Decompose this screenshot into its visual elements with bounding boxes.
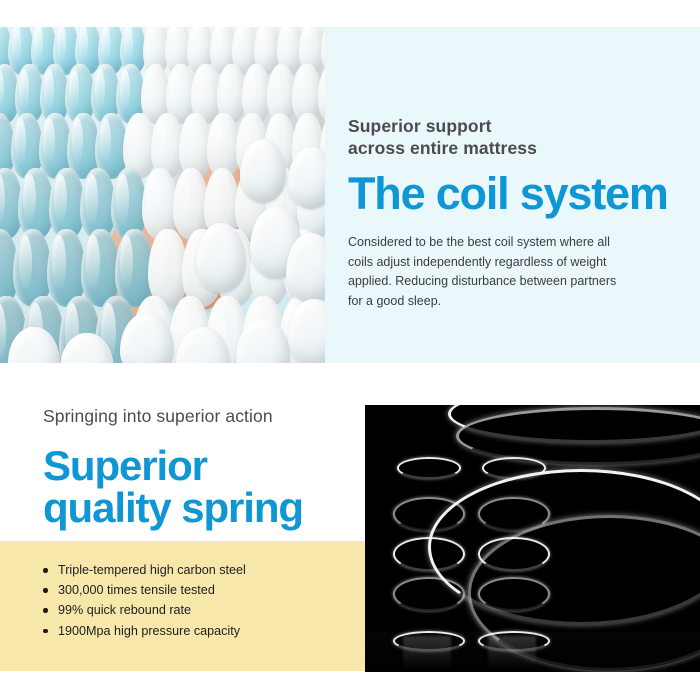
feature-item: 99% quick rebound rate xyxy=(43,600,246,620)
feature-list: Triple-tempered high carbon steel300,000… xyxy=(43,560,246,641)
coil-springs-photo xyxy=(365,405,700,672)
bullet-dot-icon xyxy=(43,608,48,613)
large-spring-closeup xyxy=(434,405,700,659)
banner-headline: The coil system xyxy=(348,171,688,217)
pocket-coils-photo xyxy=(0,27,325,363)
feature-label: 300,000 times tensile tested xyxy=(58,583,215,597)
spring-text-column: Springing into superior action Superior … xyxy=(43,405,363,529)
feature-label: 99% quick rebound rate xyxy=(58,603,191,617)
spring-headline-line1: Superior xyxy=(43,445,363,487)
feature-item: 1900Mpa high pressure capacity xyxy=(43,621,246,641)
feature-item: 300,000 times tensile tested xyxy=(43,580,246,600)
features-panel: Triple-tempered high carbon steel300,000… xyxy=(0,541,365,671)
feature-label: Triple-tempered high carbon steel xyxy=(58,563,246,577)
bullet-dot-icon xyxy=(43,568,48,573)
banner-eyebrow: Superior support across entire mattress xyxy=(348,115,678,159)
pocket-coil-white xyxy=(240,139,286,203)
pocket-coil-white xyxy=(196,223,246,293)
banner-eyebrow-line1: Superior support xyxy=(348,116,492,136)
spring-reflection xyxy=(403,636,451,670)
feature-item: Triple-tempered high carbon steel xyxy=(43,560,246,580)
spring-headline: Superior quality spring xyxy=(43,445,363,529)
banner-text-column: Superior support across entire mattress … xyxy=(348,27,678,363)
bullet-dot-icon xyxy=(43,629,48,634)
spring-eyebrow: Springing into superior action xyxy=(43,405,363,427)
product-infographic: Superior support across entire mattress … xyxy=(0,0,700,700)
spring-headline-line2: quality spring xyxy=(43,487,363,529)
bullet-dot-icon xyxy=(43,588,48,593)
feature-label: 1900Mpa high pressure capacity xyxy=(58,624,240,638)
banner-paragraph: Considered to be the best coil system wh… xyxy=(348,233,634,311)
coil-system-banner: Superior support across entire mattress … xyxy=(0,27,700,363)
banner-eyebrow-line2: across entire mattress xyxy=(348,138,537,158)
spring-reflection xyxy=(488,636,536,670)
